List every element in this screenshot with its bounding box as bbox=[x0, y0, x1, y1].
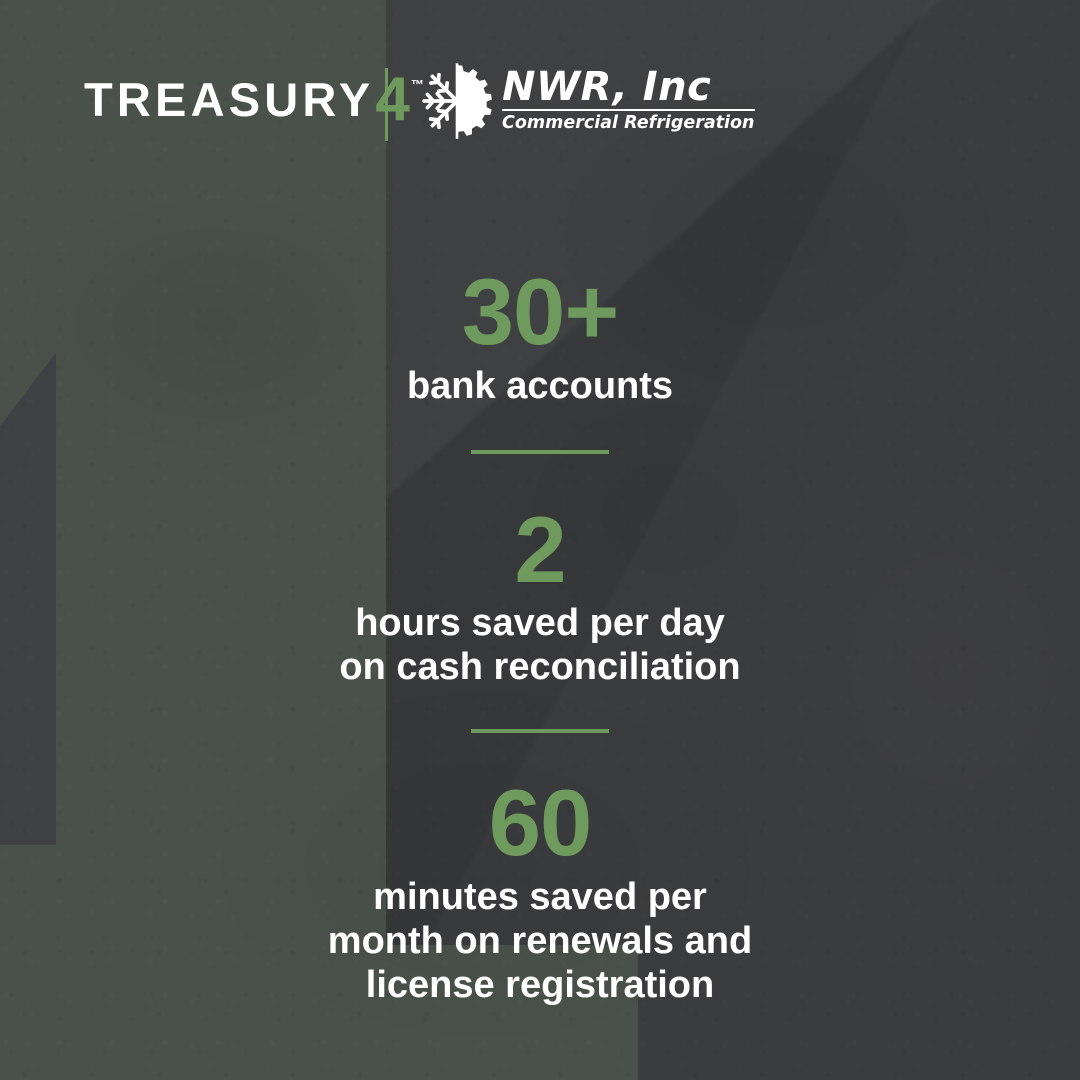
stat-label: bank accounts bbox=[300, 364, 780, 408]
stat-item-hours-saved: 2 hours saved per day on cash reconcilia… bbox=[300, 500, 780, 690]
stat-value: 30+ bbox=[300, 262, 780, 362]
treasury4-numeral: 4 bbox=[375, 76, 409, 124]
header: TREASURY 4 ™ bbox=[0, 0, 1080, 200]
stat-label-line: hours saved per day bbox=[300, 601, 780, 645]
stat-item-minutes-saved: 60 minutes saved per month on renewals a… bbox=[300, 773, 780, 1007]
stat-label: minutes saved per month on renewals and … bbox=[300, 875, 780, 1007]
nwr-tagline: Commercial Refrigeration bbox=[502, 111, 755, 135]
treasury4-logo[interactable]: TREASURY 4 ™ bbox=[84, 76, 424, 124]
stat-item-bank-accounts: 30+ bank accounts bbox=[300, 262, 780, 408]
nwr-company-name: NWR, Inc bbox=[502, 67, 755, 112]
spacer bbox=[300, 689, 780, 729]
stats-card: TREASURY 4 ™ bbox=[0, 0, 1080, 1080]
stat-label-line: minutes saved per bbox=[300, 875, 780, 919]
snowflake-gear-icon bbox=[416, 60, 498, 142]
treasury4-wordmark: TREASURY bbox=[84, 76, 374, 123]
spacer bbox=[300, 408, 780, 450]
spacer bbox=[300, 733, 780, 773]
stat-label-line: on cash reconciliation bbox=[300, 645, 780, 689]
stat-label: hours saved per day on cash reconciliati… bbox=[300, 601, 780, 689]
stat-value: 60 bbox=[300, 773, 780, 873]
nwr-logo-text: NWR, Inc Commercial Refrigeration bbox=[502, 67, 755, 136]
logo-divider bbox=[385, 68, 388, 141]
nwr-logo[interactable]: NWR, Inc Commercial Refrigeration bbox=[416, 60, 755, 142]
stats-list: 30+ bank accounts 2 hours saved per day … bbox=[300, 262, 780, 1007]
stat-value: 2 bbox=[300, 500, 780, 600]
stat-label-line: license registration bbox=[300, 963, 780, 1007]
stat-label-line: month on renewals and bbox=[300, 919, 780, 963]
spacer bbox=[300, 454, 780, 500]
